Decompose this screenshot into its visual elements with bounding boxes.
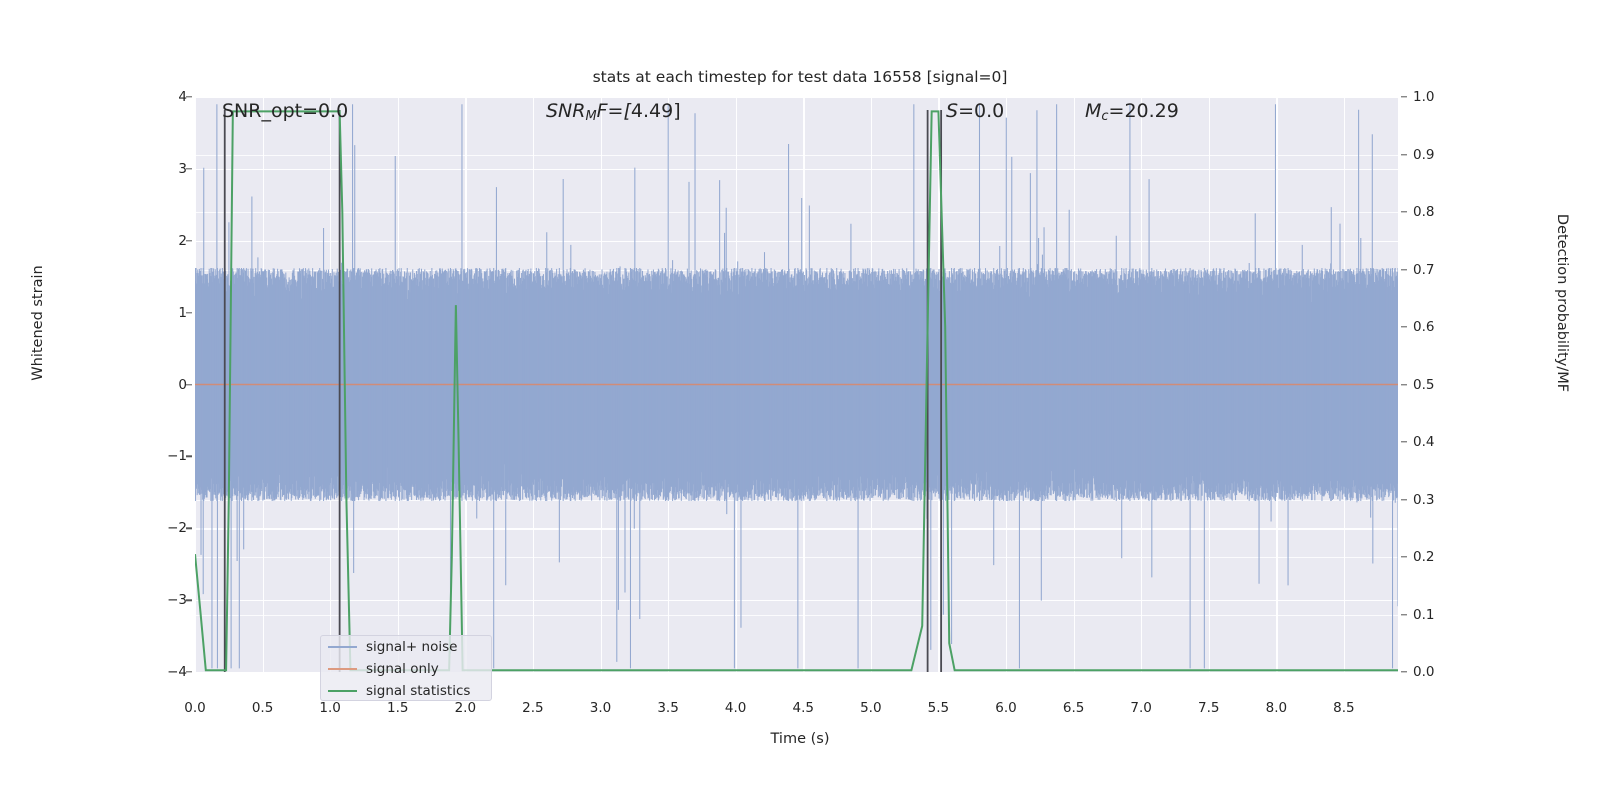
y-axis-left-tick-label: −3 — [167, 592, 187, 608]
legend-item[interactable]: signal+ noise — [321, 636, 491, 658]
x-axis-tick-label: 5.5 — [928, 700, 949, 716]
y-axis-left-tick-mark — [186, 312, 192, 313]
annotation-snr-mf-sub: M — [585, 109, 596, 124]
x-axis-tick-label: 7.5 — [1198, 700, 1219, 716]
legend-item[interactable]: signal statistics — [321, 680, 491, 702]
x-axis-tick-label: 2.0 — [455, 700, 476, 716]
y-axis-right-label: Detection probability/MF — [1554, 173, 1570, 433]
y-axis-right-tick-label: 0.4 — [1413, 434, 1434, 450]
x-axis-tick-label: 3.5 — [657, 700, 678, 716]
series-svg — [195, 97, 1398, 672]
y-axis-left-tick-mark — [186, 384, 192, 385]
legend-item-label: signal only — [366, 661, 439, 677]
annotation-s-stat-prefix: S — [946, 100, 958, 122]
y-axis-left-tick-label: −1 — [167, 448, 187, 464]
y-axis-right-tick-label: 0.1 — [1413, 607, 1434, 623]
y-axis-right-tick-label: 0.0 — [1413, 664, 1434, 680]
y-axis-right-tick-label: 0.8 — [1413, 204, 1434, 220]
legend-item-label: signal+ noise — [366, 639, 457, 655]
legend-swatch-icon — [328, 690, 357, 692]
y-axis-right-tick-label: 0.3 — [1413, 492, 1434, 508]
y-axis-right-tick-mark — [1401, 154, 1407, 155]
annotation-s-stat-value: 0.0 — [974, 100, 1004, 122]
y-axis-right-tick-label: 0.2 — [1413, 549, 1434, 565]
annotation-s-stat-mid: = — [958, 100, 974, 122]
y-axis-left-tick-mark — [186, 599, 192, 600]
y-axis-right-tick-mark — [1401, 614, 1407, 615]
legend[interactable]: signal+ noisesignal onlysignal statistic… — [320, 635, 492, 701]
annotation-snr-opt-value: 0.0 — [318, 100, 348, 122]
y-axis-left-tick-label: −2 — [167, 520, 187, 536]
x-axis-tick-label: 5.0 — [860, 700, 881, 716]
y-axis-right-tick-label: 0.5 — [1413, 377, 1434, 393]
annotation-snr-mf-mid: F=[ — [597, 100, 631, 122]
legend-swatch-icon — [328, 668, 357, 670]
y-axis-right-tick-mark — [1401, 326, 1407, 327]
legend-item[interactable]: signal only — [321, 658, 491, 680]
y-axis-right-tick-mark — [1401, 441, 1407, 442]
y-axis-right-tick-label: 1.0 — [1413, 89, 1434, 105]
annotation-snr-opt-label: SNR_opt= — [222, 100, 318, 122]
y-axis-right-tick-mark — [1401, 211, 1407, 212]
y-axis-right-tick-mark — [1401, 556, 1407, 557]
x-axis-tick-label: 8.5 — [1333, 700, 1354, 716]
annotation-snr-mf: SNRMF=[4.49] — [546, 100, 681, 124]
annotation-chirp-mass: Mc=20.29 — [1085, 100, 1179, 124]
x-axis-tick-label: 1.5 — [387, 700, 408, 716]
y-axis-right-tick-mark — [1401, 384, 1407, 385]
chart-title: stats at each timestep for test data 165… — [0, 68, 1600, 86]
legend-swatch-icon — [328, 646, 357, 648]
annotation-snr-opt: SNR_opt=0.0 — [222, 100, 348, 122]
y-axis-left-tick-mark — [186, 671, 192, 672]
x-axis-tick-label: 4.5 — [793, 700, 814, 716]
annotation-snr-mf-suffix: ] — [673, 100, 680, 122]
plot-area — [195, 97, 1398, 672]
y-axis-right-tick-mark — [1401, 671, 1407, 672]
y-axis-right-tick-label: 0.9 — [1413, 147, 1434, 163]
annotation-chirp-mass-value: 20.29 — [1124, 100, 1178, 122]
annotation-chirp-mass-prefix: M — [1085, 100, 1101, 122]
y-axis-right-tick-mark — [1401, 499, 1407, 500]
annotation-snr-mf-prefix: SNR — [546, 100, 585, 122]
y-axis-left-tick-mark — [186, 96, 192, 97]
x-axis-tick-label: 7.0 — [1130, 700, 1151, 716]
y-axis-right-tick-mark — [1401, 96, 1407, 97]
y-axis-right-tick-label: 0.6 — [1413, 319, 1434, 335]
y-axis-left-tick-mark — [186, 456, 192, 457]
y-axis-left-tick-mark — [186, 528, 192, 529]
y-axis-left-tick-mark — [186, 240, 192, 241]
y-axis-left-tick-mark — [186, 168, 192, 169]
x-axis-tick-label: 2.5 — [522, 700, 543, 716]
annotation-s-stat: S=0.0 — [946, 100, 1004, 122]
annotation-snr-mf-value: 4.49 — [631, 100, 673, 122]
annotation-chirp-mass-sub: c — [1101, 109, 1108, 124]
x-axis-tick-label: 0.5 — [252, 700, 273, 716]
y-axis-left-tick-label: −4 — [167, 664, 187, 680]
x-axis-tick-label: 8.0 — [1266, 700, 1287, 716]
x-axis-label: Time (s) — [0, 731, 1600, 747]
x-axis-tick-label: 4.0 — [725, 700, 746, 716]
annotation-chirp-mass-mid: = — [1109, 100, 1125, 122]
x-axis-tick-label: 1.0 — [319, 700, 340, 716]
y-axis-right-tick-label: 0.7 — [1413, 262, 1434, 278]
figure-canvas: stats at each timestep for test data 165… — [0, 0, 1600, 800]
x-axis-tick-label: 6.5 — [1063, 700, 1084, 716]
legend-item-label: signal statistics — [366, 683, 470, 699]
x-axis-tick-label: 0.0 — [184, 700, 205, 716]
y-axis-right-tick-mark — [1401, 269, 1407, 270]
y-axis-left-label: Whitened strain — [30, 223, 46, 423]
x-axis-tick-label: 3.0 — [590, 700, 611, 716]
data-layer — [195, 97, 1398, 672]
series-signal-noise — [195, 104, 1398, 668]
x-axis-tick-label: 6.0 — [995, 700, 1016, 716]
